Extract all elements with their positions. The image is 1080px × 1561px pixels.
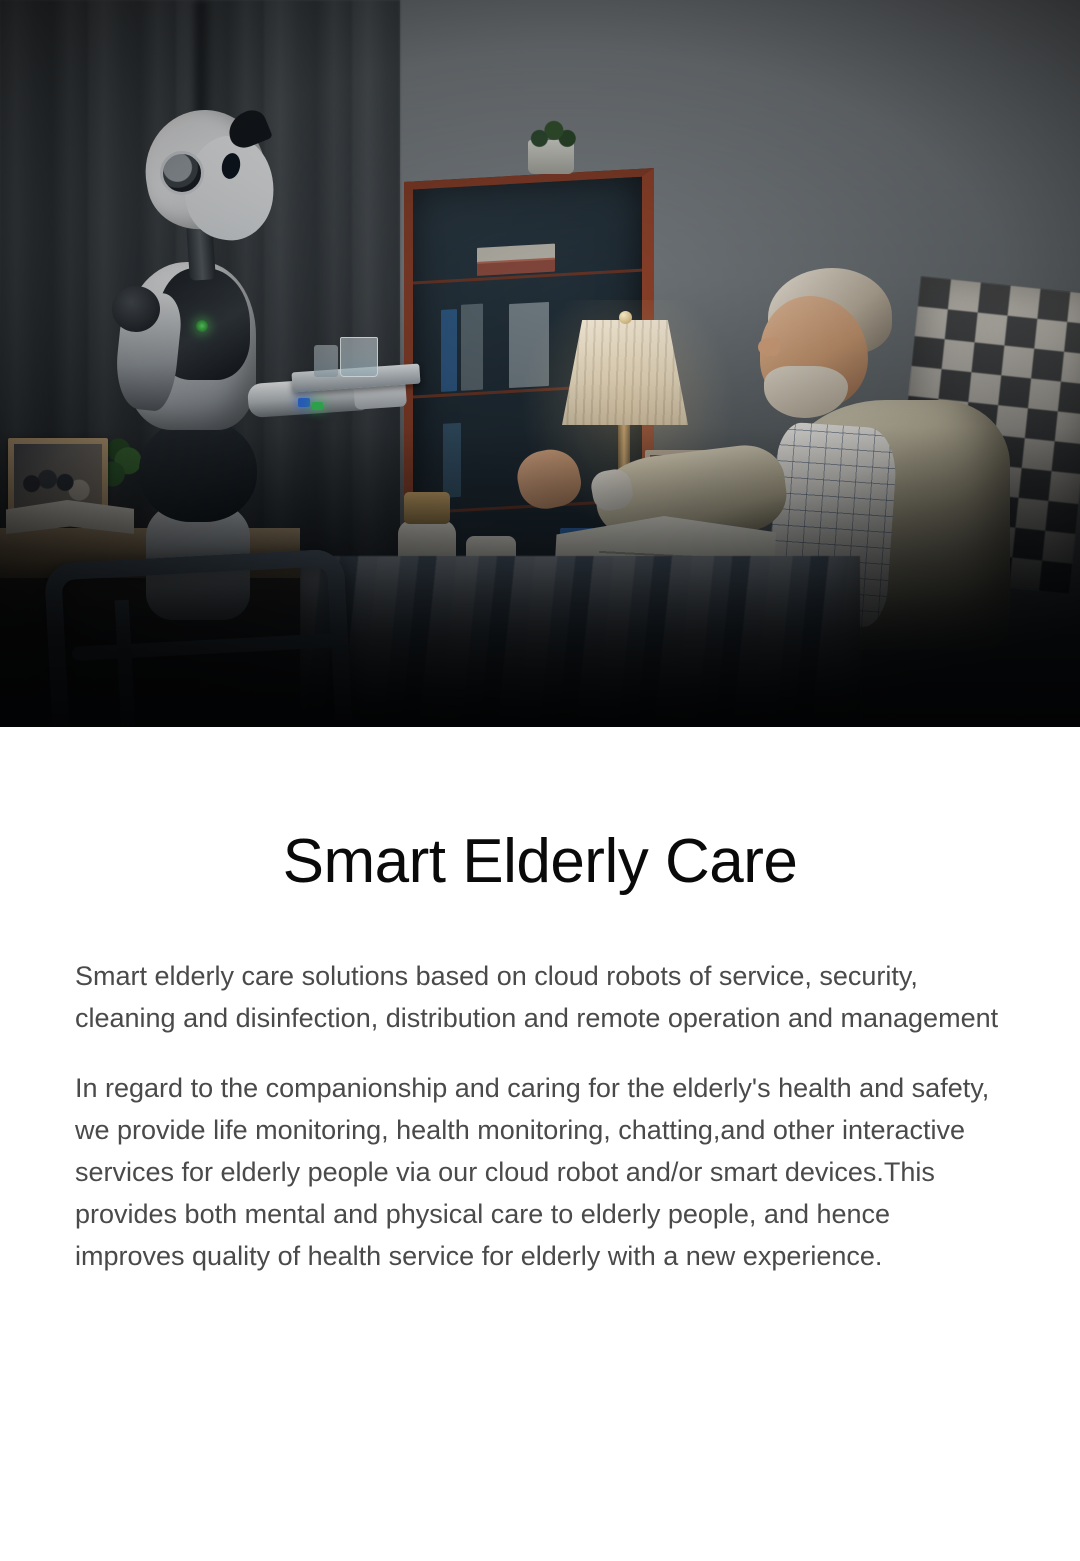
page-root: Smart Elderly Care Smart elderly care so… bbox=[0, 0, 1080, 1561]
hero-image bbox=[0, 0, 1080, 727]
hero-vignette bbox=[0, 0, 1080, 727]
paragraph-overview: Smart elderly care solutions based on cl… bbox=[75, 955, 1005, 1039]
body-copy: Smart elderly care solutions based on cl… bbox=[75, 955, 1005, 1277]
hero-scene bbox=[0, 0, 1080, 727]
paragraph-details: In regard to the companionship and carin… bbox=[75, 1067, 1005, 1277]
page-title: Smart Elderly Care bbox=[0, 831, 1080, 893]
content-section: Smart Elderly Care Smart elderly care so… bbox=[0, 727, 1080, 1277]
